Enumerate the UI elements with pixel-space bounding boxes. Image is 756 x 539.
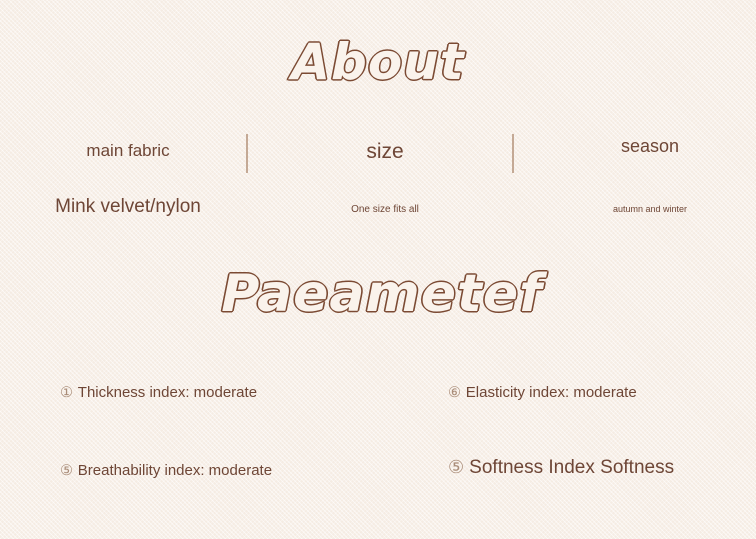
index-label-softness: Softness Index Softness	[469, 457, 674, 479]
index-item-thickness: ① Thickness index: moderate	[60, 384, 257, 401]
index-item-breathability: ⑤ Breathability index: moderate	[60, 462, 272, 479]
index-label-elasticity: Elasticity index: moderate	[466, 384, 637, 401]
index-item-softness: ⑤ Softness Index Softness	[448, 457, 674, 479]
index-label-breathability: Breathability index: moderate	[78, 462, 272, 479]
spec-label-main-fabric: main fabric	[20, 141, 236, 161]
product-detail-panel: About main fabric Mink velvet/nylon size…	[0, 0, 756, 539]
index-label-thickness: Thickness index: moderate	[78, 384, 257, 401]
about-heading: About	[0, 34, 756, 90]
spec-column-season: season autumn and winter	[544, 120, 756, 230]
circled-number-icon: ⑤	[448, 457, 464, 478]
spec-label-season: season	[544, 136, 756, 157]
spec-column-main-fabric: main fabric Mink velvet/nylon	[20, 120, 236, 230]
spec-column-size: size One size fits all	[268, 120, 502, 230]
spec-value-main-fabric: Mink velvet/nylon	[20, 196, 236, 218]
index-item-elasticity: ⑥ Elasticity index: moderate	[448, 384, 637, 401]
spec-value-season: autumn and winter	[544, 204, 756, 214]
circled-number-icon: ⑤	[60, 463, 73, 479]
circled-number-icon: ①	[60, 385, 73, 401]
column-divider-2	[512, 134, 514, 173]
spec-label-size: size	[268, 140, 502, 164]
parameters-heading: Paeametef	[0, 264, 756, 324]
circled-number-icon: ⑥	[448, 385, 461, 401]
spec-row: main fabric Mink velvet/nylon size One s…	[0, 120, 756, 230]
column-divider-1	[246, 134, 248, 173]
spec-value-size: One size fits all	[268, 204, 502, 215]
